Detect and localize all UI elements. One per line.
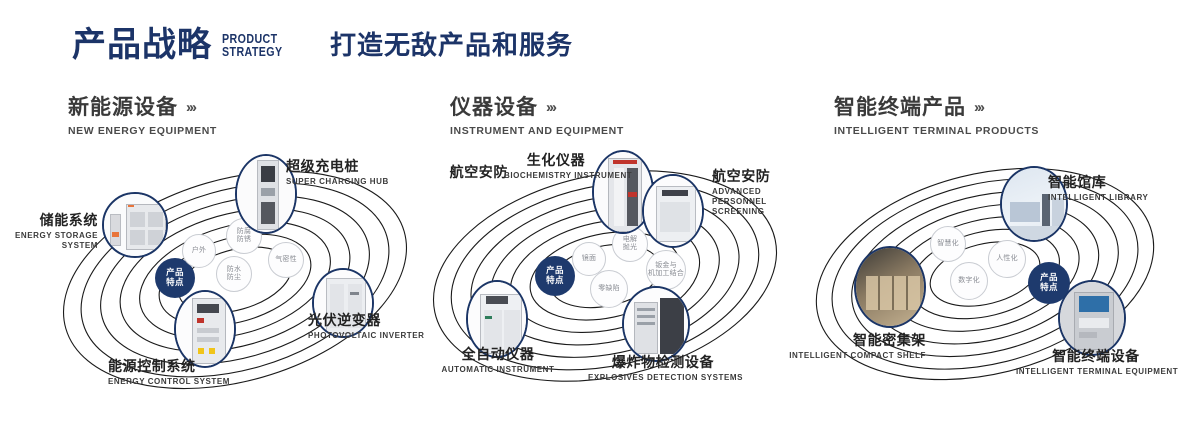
feature-bubble-outdoor: 户外 [182, 234, 216, 268]
label-super-charging-hub: 超级充电桩 SUPER CHARGING HUB [286, 158, 389, 187]
page-title-english-line2: STRATEGY [222, 45, 283, 58]
chevron-right-icon: ››› [186, 96, 195, 120]
feature-badge-line2: 特点 [546, 276, 564, 286]
label-biochemistry-instrument: 生化仪器 BIOCHEMISTRY INSTRUMENT [504, 152, 608, 181]
section-title-en: NEW ENERGY EQUIPMENT [68, 125, 217, 137]
page-title: 产品战略 [72, 28, 212, 62]
section-title-cn: 智能终端产品 [834, 96, 966, 120]
node-intelligent-terminal-equipment[interactable] [1058, 280, 1126, 356]
page-subtitle: 打造无敌产品和服务 [330, 32, 573, 58]
feature-badge-line2: 特点 [166, 278, 184, 288]
feature-badge-line2: 特点 [1040, 283, 1058, 293]
label-energy-control-system: 能源控制系统 ENERGY CONTROL SYSTEM [108, 358, 230, 387]
section-heading-new-energy: 新能源设备››› NEW ENERGY EQUIPMENT [68, 96, 217, 137]
section-title-en: INSTRUMENT AND EQUIPMENT [450, 125, 624, 137]
label-advanced-personnel-screening: 航空安防 ADVANCED PERSONNEL SCREENING [712, 168, 816, 217]
label-explosives-detection-systems: 爆炸物检测设备 EXPLOSIVES DETECTION SYSTEMS [588, 354, 738, 383]
page-title-english: PRODUCT STRATEGY [222, 32, 283, 58]
label-intelligent-library: 智能馆库 INTELLIGENT LIBRARY [1048, 174, 1148, 203]
node-energy-storage-system[interactable] [102, 192, 168, 258]
cluster-intelligent-terminal: 产品 特点 智慧化 数字化 人性化 智能馆库 INTELLIGENT LIBRA… [810, 150, 1200, 410]
chevron-right-icon: ››› [546, 96, 555, 120]
node-explosives-detection-systems[interactable] [622, 286, 690, 362]
section-title-en: INTELLIGENT TERMINAL PRODUCTS [834, 125, 1039, 137]
label-intelligent-compact-shelf: 智能密集架 INTELLIGENT COMPACT SHELF [788, 332, 926, 361]
feature-badge: 产品 特点 [535, 256, 575, 296]
label-intelligent-terminal-equipment: 智能终端设备 INTELLIGENT TERMINAL EQUIPMENT [1016, 348, 1176, 377]
cluster-instrument: 产品 特点 镜面 电解 抛光 钣金与 机加工结合 零缺陷 [420, 150, 820, 410]
feature-bubble-sheetmetal-machining: 钣金与 机加工结合 [646, 250, 686, 290]
section-title-cn: 新能源设备 [68, 96, 178, 120]
node-energy-control-system[interactable] [174, 290, 236, 368]
feature-bubble-humanized: 人性化 [988, 240, 1026, 278]
feature-bubble-zerodefect: 零缺陷 [590, 270, 628, 308]
feature-bubble-waterproof: 防水 防尘 [216, 256, 252, 292]
infographic-canvas: 产品战略 PRODUCT STRATEGY 打造无敌产品和服务 新能源设备›››… [0, 0, 1200, 422]
section-heading-intelligent-terminal: 智能终端产品››› INTELLIGENT TERMINAL PRODUCTS [834, 96, 1039, 137]
node-advanced-personnel-screening[interactable] [642, 174, 704, 248]
feature-bubble-digital: 数字化 [950, 262, 988, 300]
chevron-right-icon: ››› [974, 96, 983, 120]
label-automatic-instrument: 全自动仪器 AUTOMATIC INSTRUMENT [430, 346, 566, 375]
section-heading-instrument: 仪器设备››› INSTRUMENT AND EQUIPMENT [450, 96, 624, 137]
label-photovoltaic-inverter: 光伏逆变器 PHOTOVOLTAIC INVERTER [308, 312, 424, 341]
page-header: 产品战略 PRODUCT STRATEGY 打造无敌产品和服务 [0, 0, 1200, 88]
cluster-new-energy: 产品 特点 户外 防腐 防锈 气密性 防水 防尘 [40, 150, 440, 410]
label-energy-storage-system: 储能系统 ENERGY STORAGE SYSTEM [0, 212, 98, 251]
feature-bubble-smart: 智慧化 [930, 226, 966, 262]
node-intelligent-compact-shelf[interactable] [854, 246, 926, 328]
section-title-cn: 仪器设备 [450, 96, 538, 120]
label-aviation-security-left: 航空安防 [412, 164, 508, 181]
feature-bubble-airtight: 气密性 [268, 242, 304, 278]
